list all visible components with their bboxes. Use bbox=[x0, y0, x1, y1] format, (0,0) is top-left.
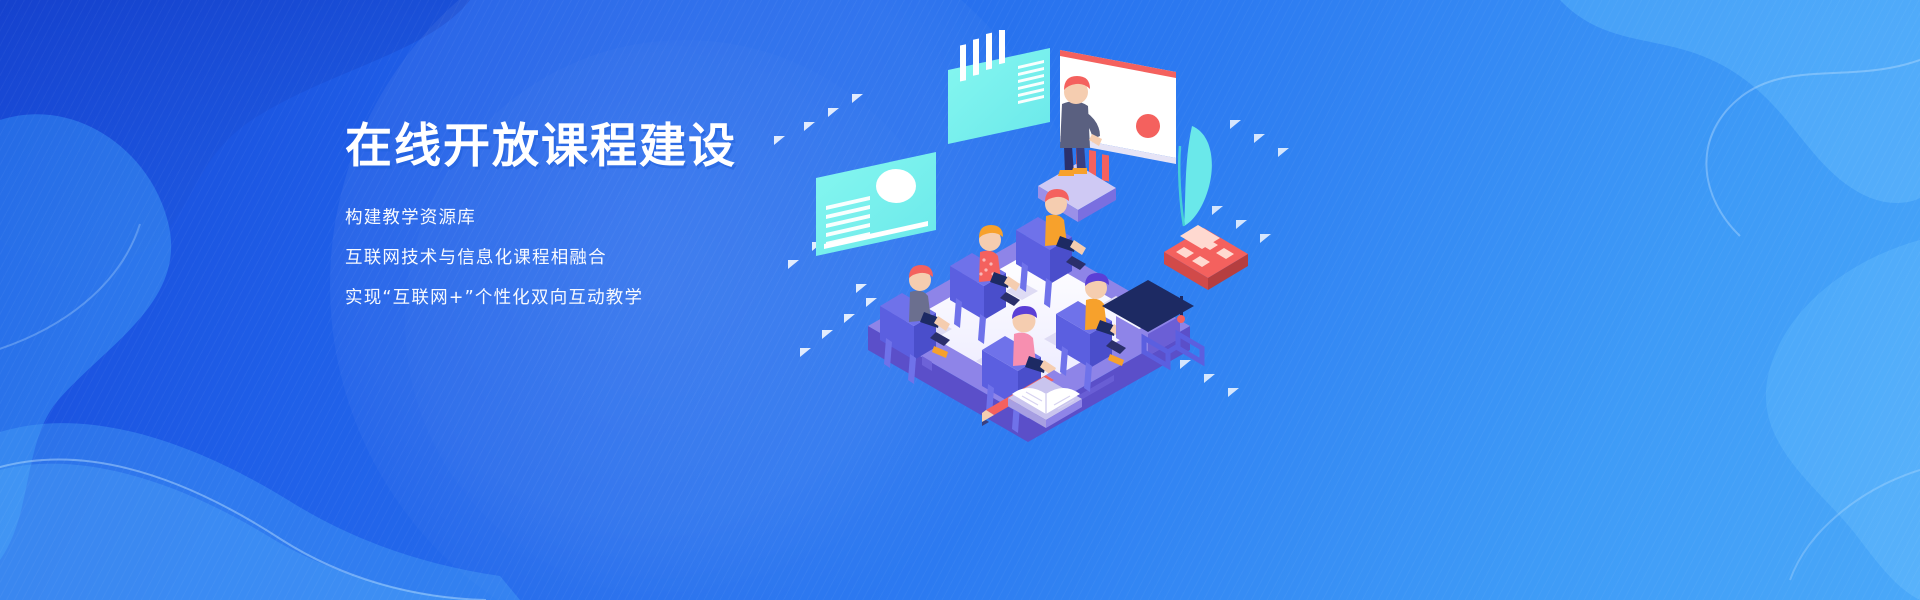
plant-leaf-icon bbox=[1179, 126, 1212, 226]
swoosh-line-right bbox=[1706, 60, 1920, 236]
calculator-icon bbox=[1164, 225, 1248, 290]
floating-screen-video bbox=[816, 152, 936, 256]
swoosh-line-left bbox=[0, 459, 486, 600]
floating-screen-bars bbox=[948, 30, 1050, 144]
swoosh-line-left-2 bbox=[0, 224, 140, 352]
swoosh-line-right-2 bbox=[1790, 470, 1920, 580]
blob-left bbox=[0, 114, 171, 560]
blob-bottom-left-2 bbox=[0, 464, 470, 600]
blob-right bbox=[1766, 240, 1920, 600]
blob-top-right bbox=[1560, 0, 1920, 203]
classroom-illustration bbox=[760, 30, 1320, 450]
isometric-scene bbox=[760, 30, 1320, 450]
blob-bottom-left bbox=[0, 423, 520, 600]
hero-banner: 在线开放课程建设 构建教学资源库 互联网技术与信息化课程相融合 实现“互联网+”… bbox=[0, 0, 1920, 600]
